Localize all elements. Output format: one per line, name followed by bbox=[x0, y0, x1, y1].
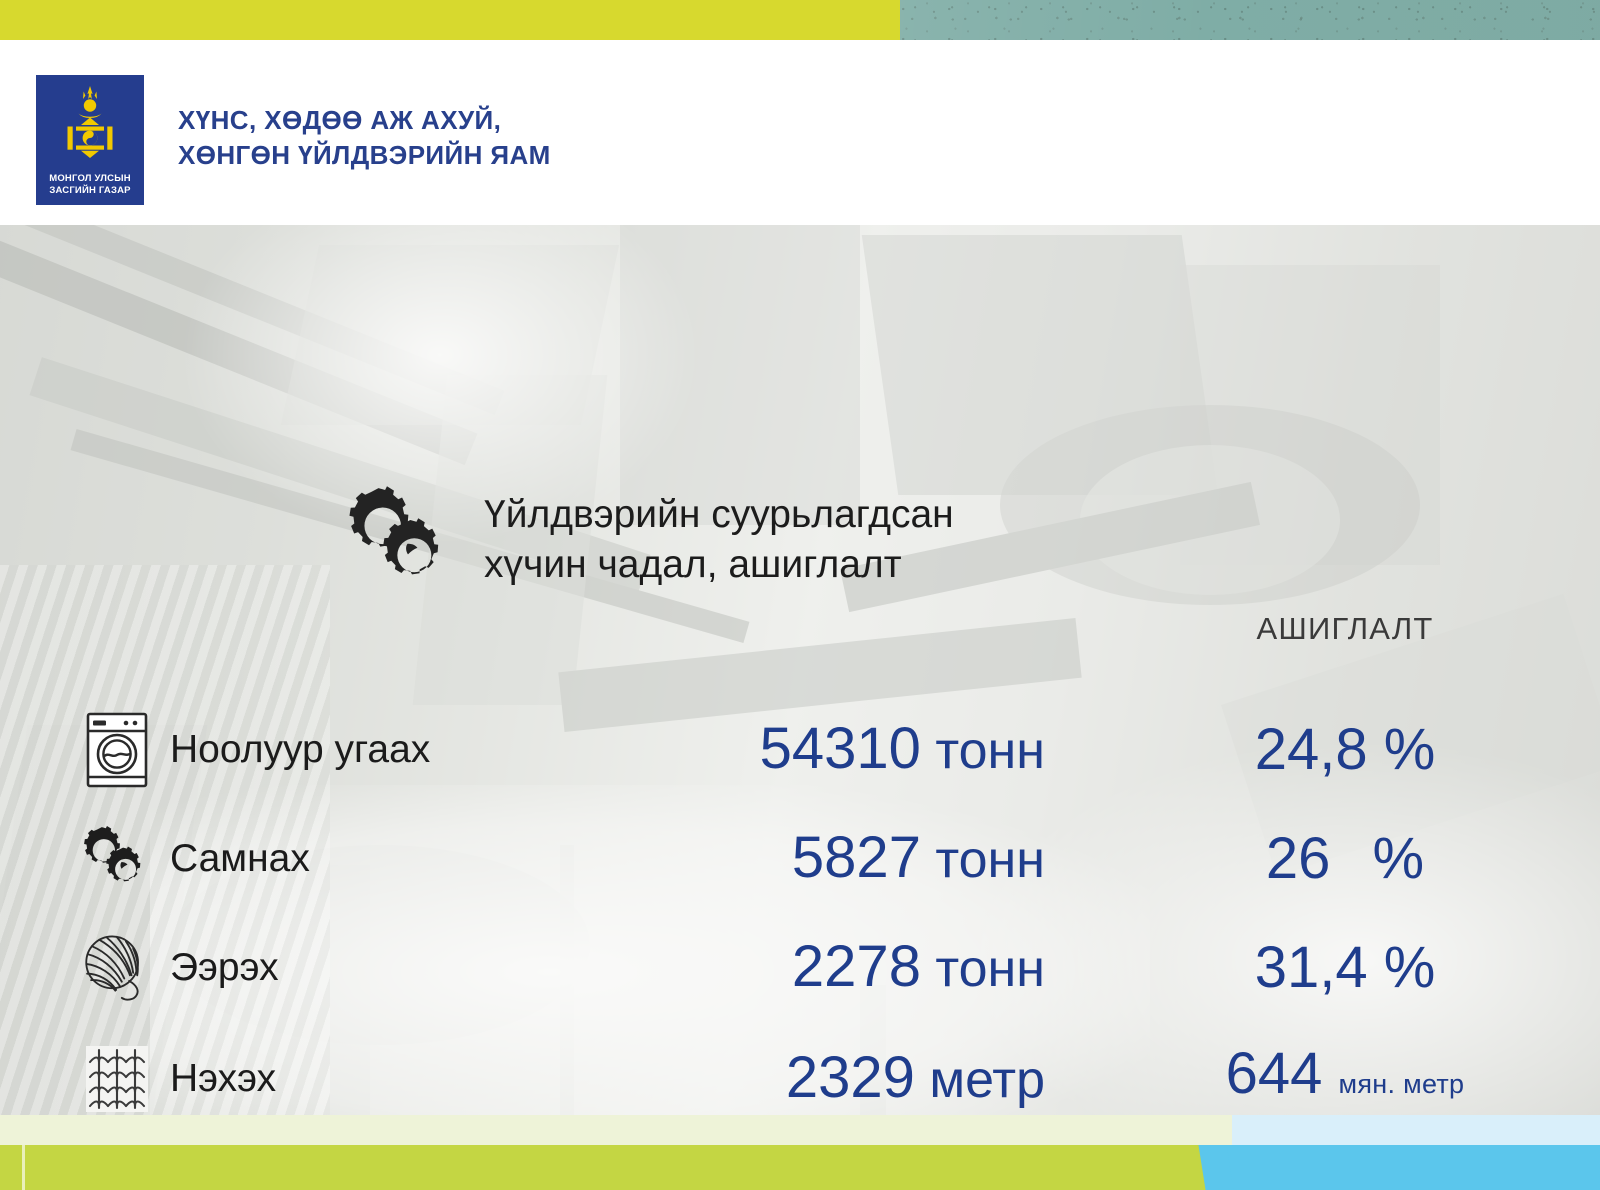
capacity-unit: тонн bbox=[935, 831, 1045, 889]
process-label: Самнах bbox=[170, 837, 560, 881]
bottom-decor-green-band bbox=[0, 1145, 1215, 1190]
washing-machine-icon bbox=[58, 711, 176, 789]
page-header: МОНГОЛ УЛСЫН ЗАСГИЙН ГАЗАР ХҮНС, ХӨДӨӨ А… bbox=[0, 40, 1600, 225]
slide-title: Үйлдвэрийн суурьлагдсан хүчин чадал, аши… bbox=[484, 490, 954, 590]
gear-pair-icon bbox=[58, 824, 176, 894]
process-label: Ноолуур угаах bbox=[170, 728, 560, 772]
capacity-unit: тонн bbox=[935, 940, 1045, 998]
emblem-caption-line2: ЗАСГИЙН ГАЗАР bbox=[49, 185, 130, 196]
utilization-value: 31,4 % bbox=[1180, 938, 1510, 998]
capacity-number: 2278 bbox=[792, 934, 921, 999]
table-row: Ноолуур угаах 54310 тонн 24,8 % bbox=[0, 695, 1600, 805]
soyombo-icon bbox=[36, 80, 144, 166]
capacity-unit: метр bbox=[929, 1051, 1045, 1109]
emblem-caption: МОНГОЛ УЛСЫН ЗАСГИЙН ГАЗАР bbox=[36, 173, 144, 197]
utilization-value: 26 % bbox=[1180, 829, 1510, 889]
weave-pattern-icon bbox=[58, 1046, 176, 1112]
utilization-value: 24,8 % bbox=[1180, 720, 1510, 780]
table-row: Самнах 5827 тонн 26 % bbox=[0, 805, 1600, 913]
capacity-value: 54310 тонн bbox=[545, 721, 1045, 779]
utilization-value: 644 мян. метр bbox=[1180, 1044, 1510, 1114]
process-label: Нэхэх bbox=[170, 1057, 560, 1101]
emblem-caption-line1: МОНГОЛ УЛСЫН bbox=[49, 173, 131, 184]
bottom-decor-blue-tint bbox=[1232, 1115, 1600, 1145]
capacity-table: Ноолуур угаах 54310 тонн 24,8 % bbox=[0, 695, 1600, 1115]
utilization-number: 31,4 bbox=[1255, 935, 1368, 1000]
utilization-column-header: АШИГЛАЛТ bbox=[1180, 611, 1510, 647]
top-decor-bar bbox=[0, 0, 1600, 40]
slide-body: Үйлдвэрийн суурьлагдсан хүчин чадал, аши… bbox=[0, 225, 1600, 1115]
table-row: Ээрэх 2278 тонн 31,4 % bbox=[0, 913, 1600, 1023]
top-decor-teal-band bbox=[900, 0, 1600, 40]
capacity-value: 5827 тонн bbox=[545, 830, 1045, 888]
bottom-decor-green-tint bbox=[0, 1115, 1240, 1145]
capacity-number: 5827 bbox=[792, 825, 921, 890]
ministry-name: ХҮНС, ХӨДӨӨ АЖ АХУЙ, ХӨНГӨН ҮЙЛДВЭРИЙН Я… bbox=[178, 103, 551, 173]
capacity-value: 2278 тонн bbox=[545, 939, 1045, 997]
utilization-unit: мян. метр bbox=[1339, 1069, 1465, 1099]
government-emblem: МОНГОЛ УЛСЫН ЗАСГИЙН ГАЗАР bbox=[36, 75, 144, 205]
ministry-name-line2: ХӨНГӨН ҮЙЛДВЭРИЙН ЯАМ bbox=[178, 138, 551, 173]
utilization-unit: % bbox=[1373, 826, 1425, 891]
bottom-decor-blue-band bbox=[1216, 1145, 1600, 1190]
bottom-decor-bar bbox=[0, 1115, 1600, 1190]
utilization-number: 24,8 bbox=[1255, 717, 1368, 782]
bottom-decor-left-notch bbox=[22, 1145, 25, 1190]
slide-title-block: Үйлдвэрийн суурьлагдсан хүчин чадал, аши… bbox=[336, 481, 954, 599]
utilization-number: 26 bbox=[1266, 826, 1331, 891]
utilization-number: 644 bbox=[1226, 1041, 1323, 1106]
utilization-unit: % bbox=[1384, 935, 1436, 1000]
ministry-name-line1: ХҮНС, ХӨДӨӨ АЖ АХУЙ, bbox=[178, 103, 551, 138]
process-label: Ээрэх bbox=[170, 946, 560, 990]
table-row: Нэхэх 2329 метр 644 мян. метр bbox=[0, 1023, 1600, 1115]
capacity-unit: тонн bbox=[935, 722, 1045, 780]
top-decor-yellow-band bbox=[0, 0, 930, 40]
capacity-number: 2329 bbox=[786, 1045, 915, 1110]
yarn-ball-icon bbox=[58, 930, 176, 1006]
capacity-number: 54310 bbox=[760, 716, 921, 781]
teal-band-sheen bbox=[900, 0, 1600, 40]
utilization-unit: % bbox=[1384, 717, 1436, 782]
gears-icon bbox=[336, 481, 454, 599]
capacity-value: 2329 метр bbox=[545, 1050, 1045, 1108]
